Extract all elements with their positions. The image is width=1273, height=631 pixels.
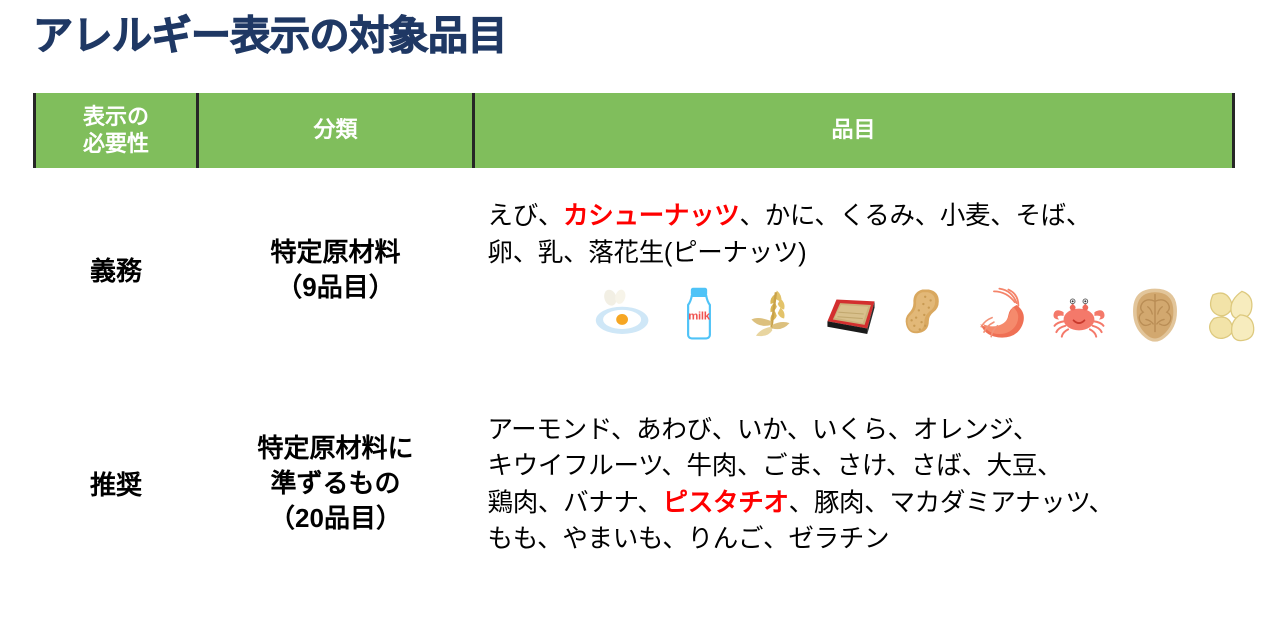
item-segment: もも、やまいも、りんご、ゼラチン (488, 525, 890, 553)
header-items: 品目 (474, 93, 1234, 168)
cell-items-mandatory: えび、カシューナッツ、かに、くるみ、小麦、そば、 卵、乳、落花生(ピーナッツ) (474, 168, 1234, 371)
item-line: 卵、乳、落花生(ピーナッツ) (488, 235, 1226, 271)
item-segment: 鶏肉、バナナ、 (488, 489, 663, 517)
cell-category-mandatory: 特定原材料 （9品目） (198, 168, 474, 371)
item-segment-highlighted: カシューナッツ (563, 202, 739, 230)
header-necessity: 表示の 必要性 (35, 93, 198, 168)
header-necessity-line2: 必要性 (36, 131, 196, 158)
cell-necessity-recommended: 推奨 (35, 371, 198, 596)
item-segment: アーモンド、あわび、いか、いくら、オレンジ、 (488, 416, 1039, 444)
milk-bottle-label: milk (688, 310, 711, 322)
table-row-recommended: 推奨 特定原材料に 準ずるもの （20品目） アーモンド、あわび、いか、いくら、… (35, 371, 1234, 596)
egg-icon (594, 285, 652, 343)
peanut-icon (898, 285, 956, 343)
cashew-nut-icon (1202, 285, 1260, 343)
item-segment: キウイフルーツ、牛肉、ごま、さけ、さば、大豆、 (488, 452, 1063, 480)
category-line: （20品目） (198, 501, 474, 536)
category-line: 特定原材料 (198, 235, 474, 270)
item-segment: 、豚肉、マカダミアナッツ、 (789, 489, 1114, 517)
table-header-row: 表示の 必要性 分類 品目 (35, 93, 1234, 168)
allergen-table: 表示の 必要性 分類 品目 義務 特定原材料 （9品目） えび、カシューナッツ、… (33, 93, 1235, 596)
item-line: 鶏肉、バナナ、ピスタチオ、豚肉、マカダミアナッツ、 (488, 485, 1226, 521)
crab-icon (1050, 285, 1108, 343)
walnut-icon (1126, 285, 1184, 343)
item-text-block: えび、カシューナッツ、かに、くるみ、小麦、そば、 卵、乳、落花生(ピーナッツ) (488, 198, 1226, 270)
cell-necessity-mandatory: 義務 (35, 168, 198, 371)
item-segment-highlighted: ピスタチオ (663, 489, 789, 517)
item-text-block: アーモンド、あわび、いか、いくら、オレンジ、 キウイフルーツ、牛肉、ごま、さけ、… (488, 412, 1226, 557)
cell-items-recommended: アーモンド、あわび、いか、いくら、オレンジ、 キウイフルーツ、牛肉、ごま、さけ、… (474, 371, 1234, 596)
header-necessity-line1: 表示の (36, 104, 196, 131)
page-title: アレルギー表示の対象品目 (33, 14, 507, 58)
milk-bottle-icon: milk (670, 285, 728, 343)
item-line: えび、カシューナッツ、かに、くるみ、小麦、そば、 (488, 198, 1226, 234)
table-row-mandatory: 義務 特定原材料 （9品目） えび、カシューナッツ、かに、くるみ、小麦、そば、 … (35, 168, 1234, 371)
soba-icon (822, 285, 880, 343)
item-line: アーモンド、あわび、いか、いくら、オレンジ、 (488, 412, 1226, 448)
header-category: 分類 (198, 93, 474, 168)
category-line: 特定原材料に (198, 431, 474, 466)
category-line: 準ずるもの (198, 466, 474, 501)
item-line: キウイフルーツ、牛肉、ごま、さけ、さば、大豆、 (488, 448, 1226, 484)
wheat-icon (746, 285, 804, 343)
item-segment: 、かに、くるみ、小麦、そば、 (740, 202, 1092, 230)
cell-category-recommended: 特定原材料に 準ずるもの （20品目） (198, 371, 474, 596)
shrimp-icon (974, 285, 1032, 343)
item-segment: 卵、乳、落花生(ピーナッツ) (488, 239, 807, 267)
item-segment: えび、 (488, 202, 564, 230)
allergen-icon-strip: milk (488, 281, 1226, 343)
category-line: （9品目） (198, 270, 474, 305)
item-line: もも、やまいも、りんご、ゼラチン (488, 521, 1226, 557)
